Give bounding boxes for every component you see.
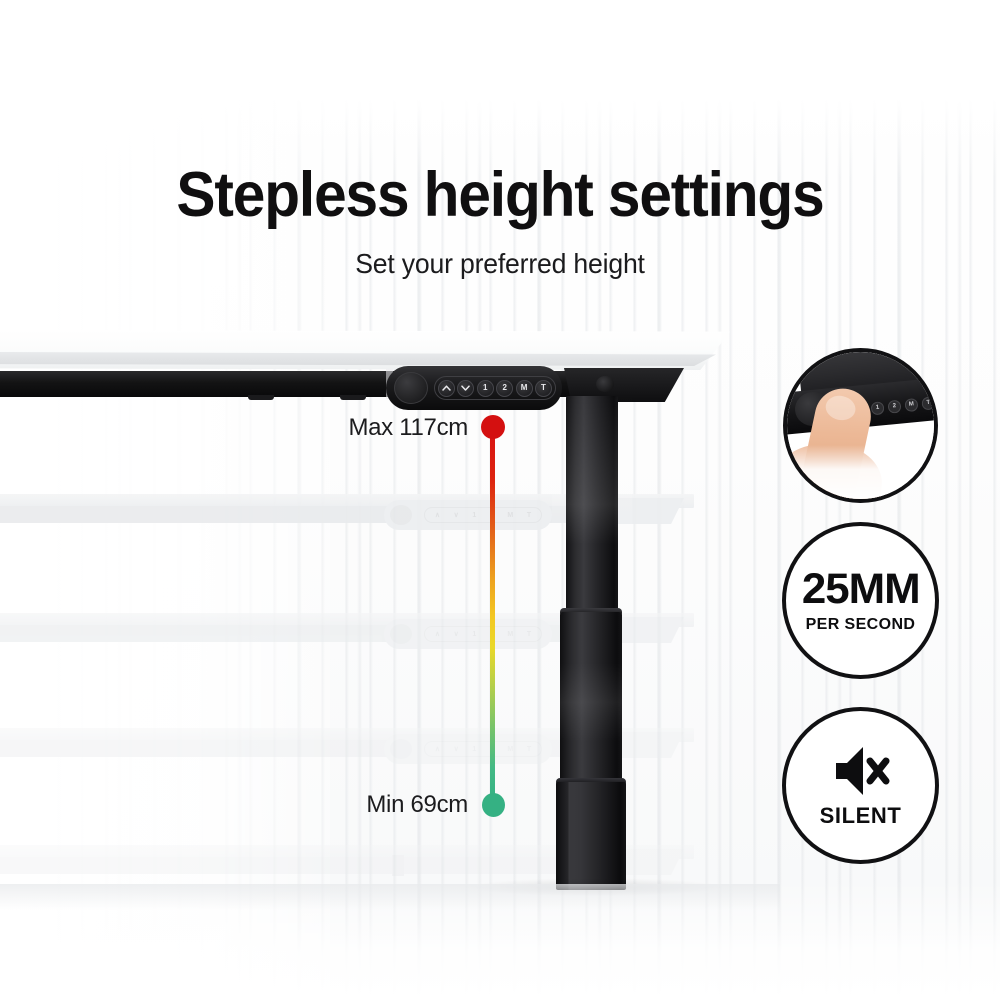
- speed-badge-value: 25MM: [802, 568, 920, 611]
- floor-horizon: [0, 884, 780, 910]
- silent-badge-label: SILENT: [820, 803, 902, 829]
- background-left-wash: [0, 0, 330, 1000]
- silent-badge: SILENT: [782, 707, 939, 864]
- mount-marking: [633, 393, 647, 399]
- closeup-preset-1: 1: [870, 401, 884, 415]
- leg-segment-lower: [556, 782, 626, 890]
- speed-badge-unit: PER SECOND: [806, 616, 916, 634]
- height-range-gradient-line: [490, 427, 495, 806]
- mute-speaker-group: [832, 743, 890, 799]
- leg-segment-middle: [560, 612, 622, 788]
- desk-control-panel[interactable]: 1 2 M T: [386, 366, 562, 410]
- product-feature-image: Stepless height settings Set your prefer…: [0, 0, 1000, 1000]
- frame-rail-bracket-left: [248, 395, 274, 400]
- down-button[interactable]: [457, 380, 474, 397]
- speaker-mute-icon: [832, 743, 890, 799]
- closeup-timer: T: [921, 396, 935, 410]
- badge-photo: ∧ ∨ 1 2 M T: [787, 352, 934, 499]
- min-height-dot: [482, 793, 505, 817]
- closeup-memory: M: [904, 397, 918, 411]
- page-title: Stepless height settings: [35, 163, 965, 229]
- max-height-label: Max 117cm: [260, 414, 468, 442]
- timer-button[interactable]: T: [535, 380, 552, 397]
- min-height-label: Min 69cm: [260, 791, 468, 819]
- touch-control-photo-badge: ∧ ∨ 1 2 M T: [783, 348, 938, 503]
- control-panel-button-row: 1 2 M T: [434, 376, 556, 400]
- preset-2-button[interactable]: 2: [496, 380, 513, 397]
- speed-badge: 25MM PER SECOND: [782, 522, 939, 679]
- closeup-preset-2: 2: [887, 399, 901, 413]
- frame-rail-bracket-right: [340, 395, 366, 400]
- preset-1-button[interactable]: 1: [477, 380, 494, 397]
- up-button[interactable]: [438, 380, 455, 397]
- leg-segment-upper: [566, 396, 618, 618]
- mount-cable-hole: [596, 376, 614, 392]
- memory-button[interactable]: M: [516, 380, 533, 397]
- badge-photo-fade: [787, 445, 934, 499]
- page-subtitle: Set your preferred height: [25, 248, 975, 280]
- max-height-dot: [481, 415, 505, 439]
- control-panel-knob[interactable]: [394, 372, 428, 404]
